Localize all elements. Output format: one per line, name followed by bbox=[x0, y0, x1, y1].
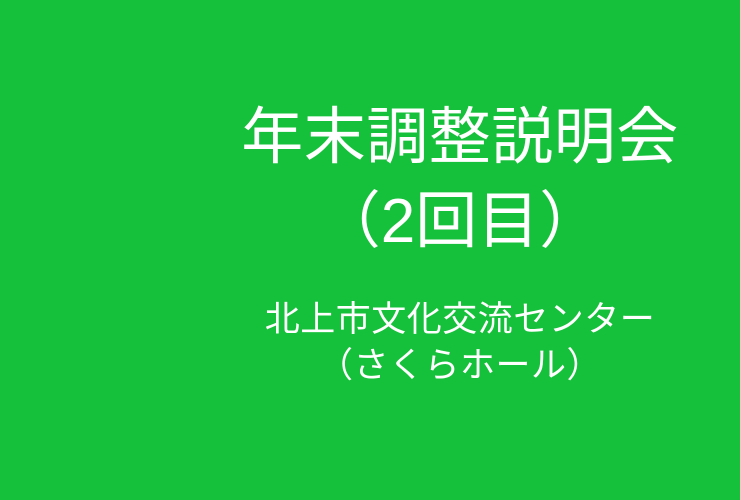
venue-container: 北上市文化交流センター （さくらホール） bbox=[0, 297, 740, 389]
venue-line-1: 北上市文化交流センター bbox=[0, 297, 740, 343]
venue-line-2: （さくらホール） bbox=[0, 343, 740, 389]
venue-subtitle: 北上市文化交流センター （さくらホール） bbox=[0, 297, 740, 389]
headline-container: 年末調整説明会 （2回目） bbox=[0, 96, 740, 264]
page-title: 年末調整説明会 （2回目） bbox=[0, 96, 740, 264]
headline-line-1: 年末調整説明会 bbox=[0, 96, 740, 180]
headline-line-2: （2回目） bbox=[0, 180, 740, 264]
slide-background: 年末調整説明会 （2回目） 北上市文化交流センター （さくらホール） bbox=[0, 0, 740, 500]
